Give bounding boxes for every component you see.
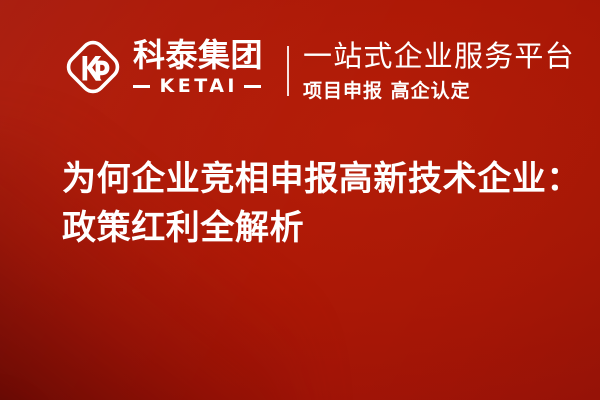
headline: 为何企业竞相申报高新技术企业： 政策红利全解析 bbox=[62, 155, 562, 253]
banner-header: 科泰集团 KETAI 一站式企业服务平台 项目申报 高企认定 bbox=[0, 0, 600, 136]
dash-right-icon bbox=[244, 85, 261, 88]
ketai-diamond-monogram-icon bbox=[62, 36, 124, 98]
tagline-main: 一站式企业服务平台 bbox=[303, 40, 575, 73]
headline-line-2: 政策红利全解析 bbox=[62, 204, 562, 253]
dash-left-icon bbox=[133, 85, 150, 88]
promo-banner: 科泰集团 KETAI 一站式企业服务平台 项目申报 高企认定 为何企业竞相申报高… bbox=[0, 0, 600, 400]
brand-name-en-row: KETAI bbox=[133, 77, 263, 96]
brand-wordmark: 科泰集团 KETAI bbox=[133, 39, 263, 96]
brand-name-en: KETAI bbox=[156, 77, 238, 96]
tagline-sub: 项目申报 高企认定 bbox=[303, 81, 575, 102]
brand-name-cn: 科泰集团 bbox=[133, 39, 263, 71]
tagline-block: 一站式企业服务平台 项目申报 高企认定 bbox=[303, 40, 575, 102]
brand-logo-lockup[interactable]: 科泰集团 KETAI bbox=[62, 36, 263, 98]
headline-line-1: 为何企业竞相申报高新技术企业： bbox=[62, 155, 562, 204]
header-divider bbox=[287, 46, 289, 96]
